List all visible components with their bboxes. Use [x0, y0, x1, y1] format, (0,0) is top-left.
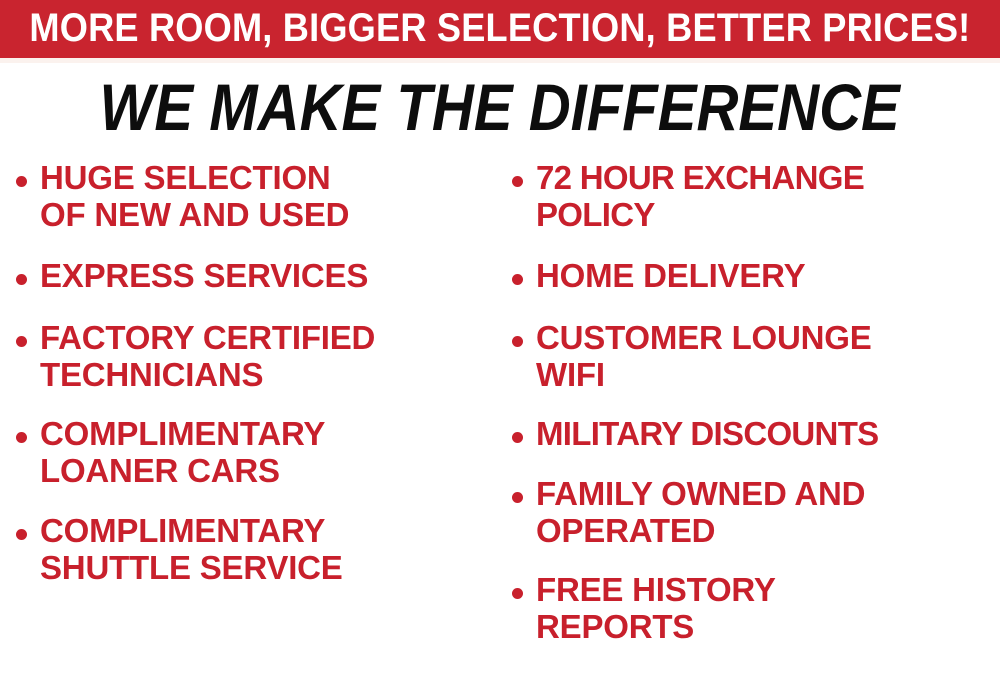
list-item-label: 72 HOUR EXCHANGE POLICY [536, 160, 864, 234]
bullet-dot-icon [16, 529, 27, 540]
list-item: COMPLIMENTARY SHUTTLE SERVICE [16, 513, 500, 587]
benefits-column-left: HUGE SELECTION OF NEW AND USED EXPRESS S… [16, 160, 500, 607]
bullet-dot-icon [16, 176, 27, 187]
list-item: EXPRESS SERVICES [16, 258, 500, 295]
list-item: FAMILY OWNED AND OPERATED [512, 476, 1000, 550]
benefits-columns: HUGE SELECTION OF NEW AND USED EXPRESS S… [0, 160, 1000, 694]
list-item: HOME DELIVERY [512, 258, 1000, 295]
benefits-column-right: 72 HOUR EXCHANGE POLICY HOME DELIVERY CU… [512, 160, 1000, 666]
bullet-dot-icon [512, 492, 523, 503]
list-item-label: HOME DELIVERY [536, 258, 805, 295]
list-item-label: FACTORY CERTIFIED TECHNICIANS [40, 320, 375, 394]
bullet-dot-icon [16, 336, 27, 347]
list-item: HUGE SELECTION OF NEW AND USED [16, 160, 500, 234]
list-item-label: MILITARY DISCOUNTS [536, 416, 878, 453]
list-item: FACTORY CERTIFIED TECHNICIANS [16, 320, 500, 394]
bullet-dot-icon [512, 588, 523, 599]
list-item-label: HUGE SELECTION OF NEW AND USED [40, 160, 349, 234]
list-item: COMPLIMENTARY LOANER CARS [16, 416, 500, 490]
bullet-dot-icon [16, 432, 27, 443]
list-item: CUSTOMER LOUNGE WIFI [512, 320, 1000, 394]
list-item-label: FAMILY OWNED AND OPERATED [536, 476, 865, 550]
promo-banner: MORE ROOM, BIGGER SELECTION, BETTER PRIC… [0, 0, 1000, 58]
bullet-dot-icon [512, 176, 523, 187]
promo-poster: MORE ROOM, BIGGER SELECTION, BETTER PRIC… [0, 0, 1000, 694]
banner-underline-divider [0, 58, 1000, 63]
list-item: 72 HOUR EXCHANGE POLICY [512, 160, 1000, 234]
list-item-label: CUSTOMER LOUNGE WIFI [536, 320, 872, 394]
bullet-dot-icon [16, 274, 27, 285]
list-item-label: EXPRESS SERVICES [40, 258, 368, 295]
bullet-dot-icon [512, 336, 523, 347]
list-item-label: FREE HISTORY REPORTS [536, 572, 776, 646]
list-item: MILITARY DISCOUNTS [512, 416, 1000, 453]
list-item-label: COMPLIMENTARY SHUTTLE SERVICE [40, 513, 343, 587]
promo-banner-text: MORE ROOM, BIGGER SELECTION, BETTER PRIC… [29, 8, 970, 50]
list-item-label: COMPLIMENTARY LOANER CARS [40, 416, 325, 490]
page-title-text: WE MAKE THE DIFFERENCE [100, 74, 900, 140]
list-item: FREE HISTORY REPORTS [512, 572, 1000, 646]
page-title: WE MAKE THE DIFFERENCE [0, 74, 1000, 140]
bullet-dot-icon [512, 432, 523, 443]
bullet-dot-icon [512, 274, 523, 285]
